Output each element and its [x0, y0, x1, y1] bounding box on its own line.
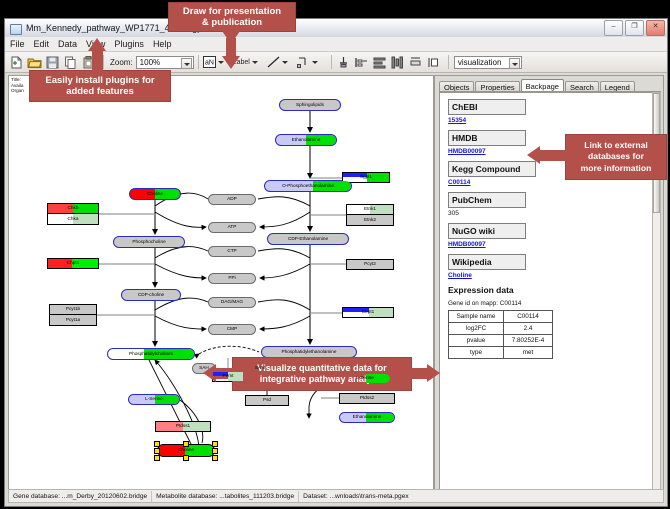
db-label-kegg-compound: Kegg Compound [448, 161, 536, 177]
node-label: Choline [147, 192, 163, 197]
node-label: PPi [228, 276, 235, 281]
callout-draw-arrowhead [222, 56, 240, 69]
node-label: Chpt1 [67, 261, 80, 266]
line-tool[interactable] [267, 56, 292, 68]
open-folder-icon[interactable] [27, 55, 42, 70]
toolbar-divider-3 [331, 55, 332, 69]
node-phosphocholine[interactable]: Phosphocholine [113, 236, 185, 248]
db-label-pubchem: PubChem [448, 192, 526, 208]
callout-draw: Draw for presentation & publication [168, 2, 296, 32]
row-value: C00114 [504, 311, 553, 323]
node-label: Etnk2 [364, 218, 376, 223]
node-ptdss1[interactable]: Ptdss1 [155, 421, 211, 432]
zoom-combobox[interactable]: 100% [136, 56, 194, 69]
callout-plugins-stem [92, 48, 103, 72]
window-controls[interactable]: – ❐ ✕ [604, 20, 665, 36]
align-height-icon[interactable] [426, 55, 441, 70]
zoom-value: 100% [140, 58, 160, 67]
node-label: Pcyt2 [364, 262, 376, 267]
selection-handle-nw[interactable] [154, 441, 160, 447]
node-ppi[interactable]: PPi [208, 273, 256, 284]
selection-handle-e[interactable] [212, 448, 218, 454]
node-label: Pcyt1a [66, 318, 80, 323]
node-label: ADP [227, 197, 237, 202]
db-link-kegg-compound[interactable]: C00114 [448, 179, 652, 186]
row-value: 2.4 [504, 323, 553, 335]
node-label: Pcyt1b [66, 307, 80, 312]
node-ethanolamine-2[interactable]: Ethanolamine [339, 412, 395, 423]
gene-id-on-mapp: Gene id on mapp: C00114 [448, 300, 652, 307]
row-value: 7.80252E-4 [504, 335, 553, 347]
node-label: L-Serine [145, 397, 163, 402]
selection-handle-s[interactable] [183, 455, 189, 461]
title-bar: Mm_Kennedy_pathway_WP1771_45176.gpml – ❐… [5, 19, 667, 38]
node-label: CMP [227, 327, 237, 332]
node-label: CTP [227, 249, 236, 254]
node-chkb[interactable]: Chkb [47, 203, 99, 214]
node-pcyt1a[interactable]: Pcyt1a [49, 315, 97, 326]
toolbar-divider-4 [448, 55, 449, 69]
chevron-down-icon-line[interactable] [282, 61, 288, 64]
node-ethanolamine-1[interactable]: Ethanolamine [275, 134, 337, 146]
visualization-combobox[interactable]: visualization [454, 56, 522, 69]
node-label: Sgpl1 [360, 175, 372, 180]
save-icon[interactable] [45, 55, 60, 70]
node-label: Ethanolamine [292, 138, 321, 143]
table-row: type met [449, 347, 553, 359]
callout-links-arrowhead [527, 146, 540, 164]
node-pcyt1b[interactable]: Pcyt1b [49, 304, 97, 315]
node-label: SAH [199, 366, 209, 371]
selection-handle-se[interactable] [212, 455, 218, 461]
callout-plugins: Easily install plugins for added feature… [29, 70, 171, 102]
node-label: Ethanolamine [353, 415, 382, 420]
align-stack-icon[interactable] [372, 55, 387, 70]
datanode-icon[interactable]: aN [203, 56, 216, 68]
node-etnk2[interactable]: Etnk2 [346, 215, 394, 226]
node-adp[interactable]: ADP [208, 194, 256, 205]
node-label: Phosphatidylcholines [129, 352, 173, 357]
node-label: Etnk1 [364, 207, 376, 212]
new-file-icon[interactable] [9, 55, 24, 70]
visualization-value: visualization [458, 58, 502, 67]
node-chpt1[interactable]: Chpt1 [47, 258, 99, 269]
pathway-edges [9, 76, 433, 501]
node-label: SAM [255, 366, 265, 371]
minimize-button[interactable]: – [604, 20, 623, 36]
node-label: CDP-choline [138, 293, 164, 298]
zoom-label: Zoom: [110, 58, 133, 67]
menu-item-file[interactable]: File [10, 39, 25, 49]
callout-visualize-arrowhead-right [427, 364, 440, 382]
callout-links-stem [540, 150, 568, 161]
table-row: log2FC 2.4 [449, 323, 553, 335]
selection-handle-n[interactable] [183, 441, 189, 447]
node-cdp-choline[interactable]: CDP-choline [121, 289, 181, 301]
node-o-phosphoethanolamine[interactable]: O-Phosphoethanolamine [264, 180, 352, 192]
callout-visualize-stem-right [410, 368, 428, 379]
selection-handle-sw[interactable] [154, 455, 160, 461]
node-sphingolipids[interactable]: Sphingolipids [279, 99, 341, 111]
toolbar-divider-2 [198, 55, 199, 69]
chevron-down-icon-label[interactable] [252, 61, 258, 64]
node-label: O-Phosphoethanolamine [282, 184, 334, 189]
node-label: Chkb [68, 206, 79, 211]
status-gene-database: Gene database: ...m_Derby_20120602.bridg… [9, 491, 152, 502]
row-key: Sample name [449, 311, 504, 323]
node-label: Ptdss1 [176, 424, 190, 429]
node-choline-top[interactable]: Choline [129, 188, 181, 200]
node-label: Cept1 [362, 310, 375, 315]
db-label-chebi: ChEBI [448, 99, 526, 115]
copy-icon[interactable] [63, 55, 78, 70]
status-bar: Gene database: ...m_Derby_20120602.bridg… [8, 489, 664, 503]
align-top-icon[interactable] [336, 55, 351, 70]
callout-draw-stem [226, 38, 236, 58]
node-cdp-ethanolamine[interactable]: CDP-Ethanolamine [267, 233, 349, 245]
db-label-nugo-wiki: NuGO wiki [448, 223, 526, 239]
node-label: Choline [178, 448, 194, 453]
node-l-serine-1[interactable]: L-Serine [128, 394, 180, 405]
node-pcyt2[interactable]: Pcyt2 [346, 259, 394, 270]
table-row: Sample name C00114 [449, 311, 553, 323]
node-label: Sphingolipids [296, 103, 324, 108]
table-row: pvalue 7.80252E-4 [449, 335, 553, 347]
row-key: type [449, 347, 504, 359]
align-width-icon[interactable] [408, 55, 423, 70]
status-metabolite-database: Metabolite database: ...tabolites_111203… [152, 491, 299, 502]
node-label: CDP-Ethanolamine [288, 237, 328, 242]
menu-item-plugins[interactable]: Plugins [114, 39, 144, 49]
line-tool-icon[interactable] [267, 56, 280, 68]
db-link-wikipedia[interactable]: Choline [448, 272, 652, 279]
node-cept1[interactable]: Cept1 [342, 307, 394, 318]
toolbar-divider [103, 55, 104, 69]
node-label: L-Serine [356, 376, 374, 381]
node-label: Chka [68, 217, 79, 222]
node-etnk1[interactable]: Etnk1 [346, 204, 394, 215]
node-label: Pemt [223, 374, 234, 379]
screenshot-root: Mm_Kennedy_pathway_WP1771_45176.gpml – ❐… [0, 0, 670, 509]
node-ptdss2[interactable]: Ptdss2 [339, 393, 395, 404]
node-label: ATP [228, 225, 237, 230]
expression-data-table: Sample name C00114 log2FC 2.4 pvalue 7.8… [448, 310, 553, 359]
shape-tool[interactable] [297, 56, 322, 68]
close-button[interactable]: ✕ [646, 20, 665, 36]
align-distribute-icon[interactable] [390, 55, 405, 70]
node-ctp[interactable]: CTP [208, 246, 256, 257]
pathway-canvas[interactable]: Title: Availa Organ [8, 75, 434, 502]
node-phosphatidylcholines[interactable]: Phosphatidylcholines [107, 348, 195, 360]
menu-item-help[interactable]: Help [153, 39, 172, 49]
row-value: met [504, 347, 553, 359]
shape-tool-icon[interactable] [297, 56, 310, 68]
pathvisio-icon [9, 22, 22, 35]
node-label: Psd [263, 398, 271, 403]
node-label: Ptdss2 [360, 396, 374, 401]
node-psd[interactable]: Psd [245, 395, 289, 406]
node-label: Phosphatidylethanolamine [282, 350, 337, 355]
node-dag-mag[interactable]: DAG/MAG [208, 297, 256, 308]
row-key: log2FC [449, 323, 504, 335]
selection-handle-ne[interactable] [212, 441, 218, 447]
node-label: Phosphocholine [132, 240, 165, 245]
db-label-wikipedia: Wikipedia [448, 254, 526, 270]
node-cmp[interactable]: CMP [208, 324, 256, 335]
node-atp[interactable]: ATP [208, 222, 256, 233]
chevron-down-icon-visualization[interactable] [509, 58, 520, 69]
maximize-button[interactable]: ❐ [625, 20, 644, 36]
chevron-down-icon[interactable] [181, 58, 192, 69]
callout-links: Link to external databases for more info… [565, 134, 667, 180]
selection-handle-w[interactable] [154, 448, 160, 454]
menu-item-data[interactable]: Data [58, 39, 77, 49]
menu-item-edit[interactable]: Edit [34, 39, 50, 49]
align-left-icon[interactable] [354, 55, 369, 70]
chevron-down-icon-shape[interactable] [312, 61, 318, 64]
row-key: pvalue [449, 335, 504, 347]
db-label-hmdb: HMDB [448, 130, 526, 146]
expression-data-header: Expression data [448, 285, 652, 295]
db-link-chebi[interactable]: 15354 [448, 117, 652, 124]
svg-text:aN: aN [205, 60, 214, 67]
db-link-nugo-wiki[interactable]: HMDB00097 [448, 241, 652, 248]
callout-plugins-arrowhead [88, 38, 106, 51]
node-label: DAG/MAG [221, 300, 243, 305]
node-chka[interactable]: Chka [47, 214, 99, 225]
status-dataset: Dataset: ...wnloads\trans-meta.pgex [299, 491, 413, 502]
db-value-pubchem: 305 [448, 210, 652, 217]
